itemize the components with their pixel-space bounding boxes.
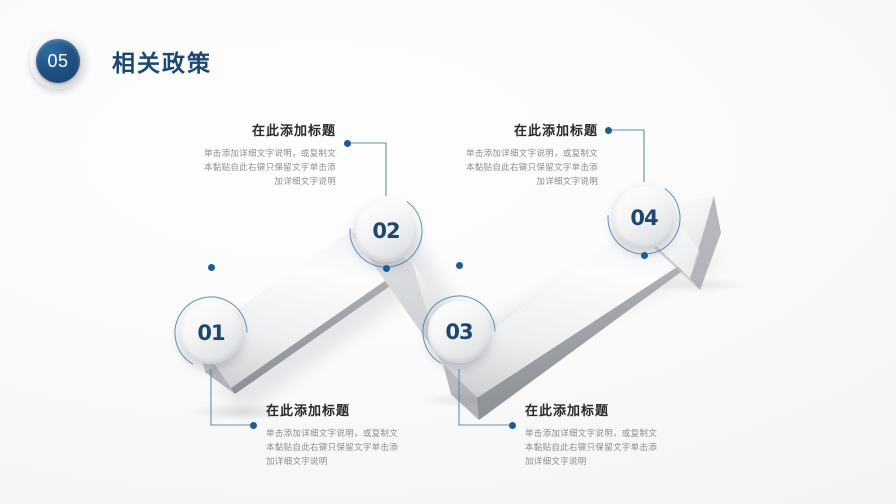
node-04-anchor-dot bbox=[641, 252, 648, 259]
text-block-01-line-1: 单击添加详细文字说明，或复制文 bbox=[266, 426, 466, 440]
node-01-disc: 01 bbox=[180, 302, 242, 364]
section-number-text: 05 bbox=[47, 51, 68, 72]
connector-path-04 bbox=[608, 130, 644, 182]
connector-path-03 bbox=[459, 369, 511, 425]
text-block-01-line-2: 本黏贴自此右键只保留文字单击添 bbox=[266, 440, 466, 454]
node-02-anchor-dot bbox=[383, 265, 390, 272]
slide-canvas: 05 相关政策 bbox=[0, 0, 896, 504]
end-dot-03 bbox=[509, 422, 516, 429]
text-block-03-line-3: 加详细文字说明 bbox=[525, 454, 725, 468]
slide-header: 05 相关政策 bbox=[30, 33, 212, 89]
text-block-03: 在此添加标题 单击添加详细文字说明，或复制文 本黏贴自此右键只保留文字单击添 加… bbox=[525, 400, 725, 468]
text-block-04-title: 在此添加标题 bbox=[398, 120, 598, 139]
connector-path-01 bbox=[211, 370, 252, 425]
node-01-number: 01 bbox=[197, 321, 224, 345]
node-03[interactable]: 03 bbox=[428, 301, 490, 363]
end-dot-01 bbox=[250, 422, 257, 429]
text-block-01-line-3: 加详细文字说明 bbox=[266, 454, 466, 468]
node-03-anchor-dot bbox=[456, 262, 463, 269]
node-04[interactable]: 04 bbox=[613, 187, 675, 249]
text-block-02-title: 在此添加标题 bbox=[136, 120, 336, 139]
text-block-04-line-3: 加详细文字说明 bbox=[398, 174, 598, 188]
section-number-inner: 05 bbox=[36, 39, 80, 83]
page-title: 相关政策 bbox=[112, 44, 212, 78]
text-block-03-title: 在此添加标题 bbox=[525, 400, 725, 419]
text-block-02-line-1: 单击添加详细文字说明，或复制文 bbox=[136, 146, 336, 160]
end-dot-04 bbox=[605, 127, 612, 134]
text-block-01-title: 在此添加标题 bbox=[266, 400, 466, 419]
text-block-04: 在此添加标题 单击添加详细文字说明，或复制文 本黏贴自此右键只保留文字单击添 加… bbox=[398, 120, 598, 188]
end-dot-02 bbox=[344, 140, 351, 147]
node-04-disc: 04 bbox=[613, 187, 675, 249]
node-04-number: 04 bbox=[630, 206, 657, 230]
text-block-02: 在此添加标题 单击添加详细文字说明，或复制文 本黏贴自此右键只保留文字单击添 加… bbox=[136, 120, 336, 188]
node-02[interactable]: 02 bbox=[355, 200, 417, 262]
text-block-03-line-1: 单击添加详细文字说明，或复制文 bbox=[525, 426, 725, 440]
connector-path-02 bbox=[347, 143, 386, 196]
text-block-04-line-1: 单击添加详细文字说明，或复制文 bbox=[398, 146, 598, 160]
node-02-number: 02 bbox=[372, 219, 399, 243]
section-number-badge: 05 bbox=[30, 33, 86, 89]
text-block-03-line-2: 本黏贴自此右键只保留文字单击添 bbox=[525, 440, 725, 454]
text-block-04-line-2: 本黏贴自此右键只保留文字单击添 bbox=[398, 160, 598, 174]
node-03-disc: 03 bbox=[428, 301, 490, 363]
node-03-number: 03 bbox=[445, 320, 472, 344]
text-block-01: 在此添加标题 单击添加详细文字说明，或复制文 本黏贴自此右键只保留文字单击添 加… bbox=[266, 400, 466, 468]
node-01-anchor-dot bbox=[208, 264, 215, 271]
text-block-02-line-3: 加详细文字说明 bbox=[136, 174, 336, 188]
node-02-disc: 02 bbox=[355, 200, 417, 262]
node-01[interactable]: 01 bbox=[180, 302, 242, 364]
text-block-02-line-2: 本黏贴自此右键只保留文字单击添 bbox=[136, 160, 336, 174]
